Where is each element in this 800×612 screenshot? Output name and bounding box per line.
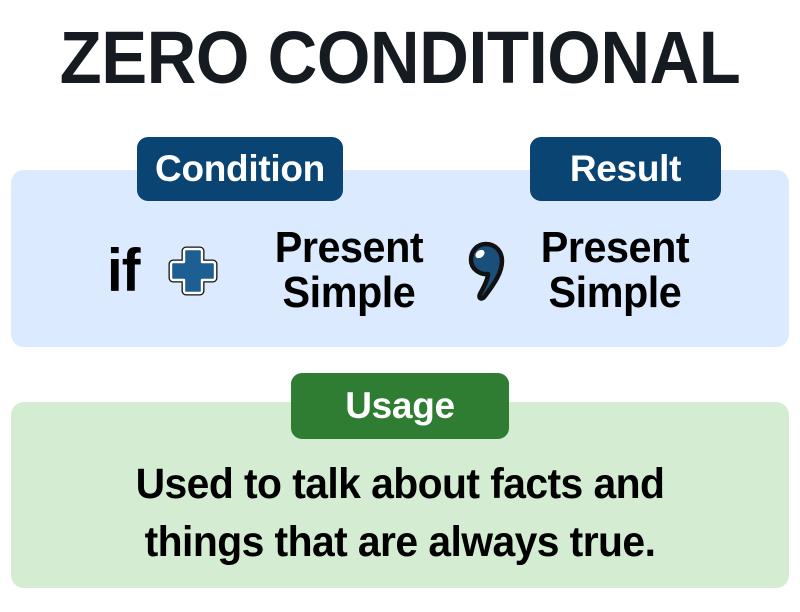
formula-row: if Present Simple Present Simple <box>11 206 789 336</box>
result-tense: Present Simple <box>541 226 689 316</box>
plus-icon <box>166 244 220 298</box>
condition-tense-line-2: Simple <box>275 271 423 316</box>
page-title: ZERO CONDITIONAL <box>28 18 772 98</box>
usage-line-1: Used to talk about facts and <box>30 455 769 513</box>
comma-icon <box>462 238 508 304</box>
result-tense-line-2: Simple <box>541 271 689 316</box>
usage-description: Used to talk about facts and things that… <box>30 455 769 571</box>
condition-badge: Condition <box>137 137 343 201</box>
usage-line-2: things that are always true. <box>30 513 769 571</box>
usage-badge: Usage <box>291 373 509 439</box>
condition-tense-line-1: Present <box>275 226 423 271</box>
if-keyword: if <box>107 240 140 301</box>
condition-tense: Present Simple <box>275 226 423 316</box>
result-badge: Result <box>530 137 721 201</box>
result-tense-line-1: Present <box>541 226 689 271</box>
